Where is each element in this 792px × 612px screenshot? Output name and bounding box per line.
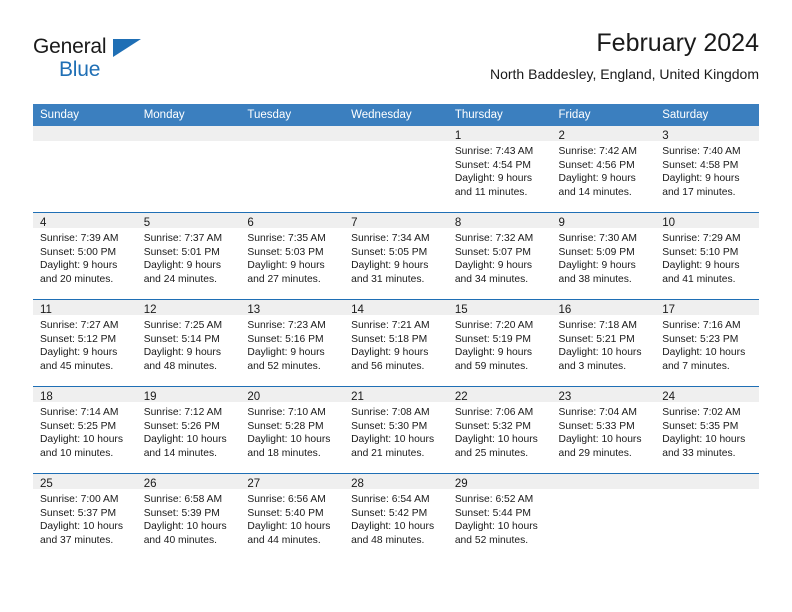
day-number: 17: [655, 300, 759, 315]
sunrise-text: Sunrise: 7:35 AM: [247, 232, 338, 246]
calendar-day-cell[interactable]: 19Sunrise: 7:12 AMSunset: 5:26 PMDayligh…: [137, 387, 241, 474]
sunset-text: Sunset: 5:23 PM: [662, 333, 753, 347]
sunrise-text: Sunrise: 7:30 AM: [559, 232, 650, 246]
day-details: [137, 141, 241, 212]
daylight-text-line2: and 25 minutes.: [455, 447, 546, 461]
day-number: 28: [344, 474, 448, 489]
daylight-text-line1: Daylight: 9 hours: [455, 259, 546, 273]
sunset-text: Sunset: 5:21 PM: [559, 333, 650, 347]
daylight-text-line1: Daylight: 9 hours: [455, 346, 546, 360]
weekday-header-sunday: Sunday: [33, 104, 137, 126]
calendar-day-cell[interactable]: 12Sunrise: 7:25 AMSunset: 5:14 PMDayligh…: [137, 300, 241, 387]
weekday-header-friday: Friday: [552, 104, 656, 126]
daylight-text-line2: and 31 minutes.: [351, 273, 442, 287]
calendar-day-cell[interactable]: 8Sunrise: 7:32 AMSunset: 5:07 PMDaylight…: [448, 213, 552, 300]
day-number: 3: [655, 126, 759, 141]
daylight-text-line1: Daylight: 9 hours: [144, 259, 235, 273]
page-subtitle: North Baddesley, England, United Kingdom: [490, 64, 759, 84]
calendar-day-cell[interactable]: 21Sunrise: 7:08 AMSunset: 5:30 PMDayligh…: [344, 387, 448, 474]
calendar-cell-empty: [240, 126, 344, 213]
sunset-text: Sunset: 5:19 PM: [455, 333, 546, 347]
sunset-text: Sunset: 5:01 PM: [144, 246, 235, 260]
daylight-text-line1: Daylight: 9 hours: [247, 346, 338, 360]
sunrise-text: Sunrise: 7:29 AM: [662, 232, 753, 246]
day-details: Sunrise: 7:20 AMSunset: 5:19 PMDaylight:…: [448, 315, 552, 386]
sunrise-text: Sunrise: 7:27 AM: [40, 319, 131, 333]
daylight-text-line2: and 21 minutes.: [351, 447, 442, 461]
calendar-day-cell[interactable]: 7Sunrise: 7:34 AMSunset: 5:05 PMDaylight…: [344, 213, 448, 300]
daylight-text-line2: and 29 minutes.: [559, 447, 650, 461]
calendar-day-cell[interactable]: 4Sunrise: 7:39 AMSunset: 5:00 PMDaylight…: [33, 213, 137, 300]
sunset-text: Sunset: 5:44 PM: [455, 507, 546, 521]
brand-logo-blue-text: Blue: [59, 59, 183, 81]
daylight-text-line1: Daylight: 10 hours: [559, 433, 650, 447]
day-number: 7: [344, 213, 448, 228]
sunrise-text: Sunrise: 7:08 AM: [351, 406, 442, 420]
sunset-text: Sunset: 5:32 PM: [455, 420, 546, 434]
sunset-text: Sunset: 5:14 PM: [144, 333, 235, 347]
daylight-text-line2: and 34 minutes.: [455, 273, 546, 287]
day-number: 6: [240, 213, 344, 228]
calendar-cell-empty: [137, 126, 241, 213]
sunrise-text: Sunrise: 7:34 AM: [351, 232, 442, 246]
day-details: Sunrise: 6:56 AMSunset: 5:40 PMDaylight:…: [240, 489, 344, 560]
calendar-day-cell[interactable]: 3Sunrise: 7:40 AMSunset: 4:58 PMDaylight…: [655, 126, 759, 213]
day-number: 19: [137, 387, 241, 402]
sunrise-text: Sunrise: 7:42 AM: [559, 145, 650, 159]
daylight-text-line2: and 3 minutes.: [559, 360, 650, 374]
daylight-text-line2: and 44 minutes.: [247, 534, 338, 548]
daylight-text-line1: Daylight: 9 hours: [40, 346, 131, 360]
sunrise-text: Sunrise: 7:00 AM: [40, 493, 131, 507]
day-details: [655, 489, 759, 560]
daylight-text-line2: and 48 minutes.: [351, 534, 442, 548]
sunset-text: Sunset: 5:16 PM: [247, 333, 338, 347]
calendar-day-cell[interactable]: 13Sunrise: 7:23 AMSunset: 5:16 PMDayligh…: [240, 300, 344, 387]
calendar-day-cell[interactable]: 27Sunrise: 6:56 AMSunset: 5:40 PMDayligh…: [240, 474, 344, 561]
daylight-text-line1: Daylight: 10 hours: [40, 520, 131, 534]
sunrise-text: Sunrise: 7:40 AM: [662, 145, 753, 159]
day-details: Sunrise: 7:37 AMSunset: 5:01 PMDaylight:…: [137, 228, 241, 299]
day-details: Sunrise: 7:43 AMSunset: 4:54 PMDaylight:…: [448, 141, 552, 212]
sunset-text: Sunset: 5:33 PM: [559, 420, 650, 434]
calendar-day-cell[interactable]: 17Sunrise: 7:16 AMSunset: 5:23 PMDayligh…: [655, 300, 759, 387]
sunrise-text: Sunrise: 7:14 AM: [40, 406, 131, 420]
daylight-text-line2: and 33 minutes.: [662, 447, 753, 461]
sunrise-text: Sunrise: 7:43 AM: [455, 145, 546, 159]
day-details: Sunrise: 7:18 AMSunset: 5:21 PMDaylight:…: [552, 315, 656, 386]
day-number: 16: [552, 300, 656, 315]
day-number: 27: [240, 474, 344, 489]
sunset-text: Sunset: 5:37 PM: [40, 507, 131, 521]
sunrise-text: Sunrise: 7:23 AM: [247, 319, 338, 333]
brand-logo-general-text: General: [33, 36, 183, 58]
day-number: [33, 126, 137, 141]
day-number: [655, 474, 759, 489]
calendar-table: Sunday Monday Tuesday Wednesday Thursday…: [33, 104, 759, 560]
calendar-day-cell[interactable]: 26Sunrise: 6:58 AMSunset: 5:39 PMDayligh…: [137, 474, 241, 561]
weekday-header-wednesday: Wednesday: [344, 104, 448, 126]
calendar-day-cell[interactable]: 22Sunrise: 7:06 AMSunset: 5:32 PMDayligh…: [448, 387, 552, 474]
day-number: [240, 126, 344, 141]
day-number: 23: [552, 387, 656, 402]
daylight-text-line1: Daylight: 10 hours: [351, 433, 442, 447]
day-number: 4: [33, 213, 137, 228]
sunset-text: Sunset: 5:25 PM: [40, 420, 131, 434]
day-number: 9: [552, 213, 656, 228]
daylight-text-line1: Daylight: 10 hours: [351, 520, 442, 534]
daylight-text-line2: and 48 minutes.: [144, 360, 235, 374]
sunrise-text: Sunrise: 6:58 AM: [144, 493, 235, 507]
day-details: Sunrise: 7:14 AMSunset: 5:25 PMDaylight:…: [33, 402, 137, 473]
day-number: 14: [344, 300, 448, 315]
day-details: Sunrise: 7:02 AMSunset: 5:35 PMDaylight:…: [655, 402, 759, 473]
page-header: General Blue February 2024 North Baddesl…: [33, 28, 759, 98]
calendar-day-cell[interactable]: 18Sunrise: 7:14 AMSunset: 5:25 PMDayligh…: [33, 387, 137, 474]
daylight-text-line2: and 7 minutes.: [662, 360, 753, 374]
daylight-text-line2: and 14 minutes.: [559, 186, 650, 200]
sunset-text: Sunset: 5:26 PM: [144, 420, 235, 434]
day-details: Sunrise: 6:52 AMSunset: 5:44 PMDaylight:…: [448, 489, 552, 560]
calendar-day-cell[interactable]: 23Sunrise: 7:04 AMSunset: 5:33 PMDayligh…: [552, 387, 656, 474]
daylight-text-line1: Daylight: 10 hours: [247, 433, 338, 447]
daylight-text-line2: and 37 minutes.: [40, 534, 131, 548]
calendar-week-row: 25Sunrise: 7:00 AMSunset: 5:37 PMDayligh…: [33, 474, 759, 561]
calendar-day-cell[interactable]: 5Sunrise: 7:37 AMSunset: 5:01 PMDaylight…: [137, 213, 241, 300]
sunrise-text: Sunrise: 6:56 AM: [247, 493, 338, 507]
sunrise-text: Sunrise: 7:20 AM: [455, 319, 546, 333]
weekday-header-tuesday: Tuesday: [240, 104, 344, 126]
sunset-text: Sunset: 5:42 PM: [351, 507, 442, 521]
calendar-day-cell[interactable]: 10Sunrise: 7:29 AMSunset: 5:10 PMDayligh…: [655, 213, 759, 300]
day-details: Sunrise: 6:54 AMSunset: 5:42 PMDaylight:…: [344, 489, 448, 560]
calendar-day-cell[interactable]: 24Sunrise: 7:02 AMSunset: 5:35 PMDayligh…: [655, 387, 759, 474]
day-details: Sunrise: 7:25 AMSunset: 5:14 PMDaylight:…: [137, 315, 241, 386]
sunrise-text: Sunrise: 7:02 AM: [662, 406, 753, 420]
sunrise-text: Sunrise: 6:52 AM: [455, 493, 546, 507]
sunrise-text: Sunrise: 7:06 AM: [455, 406, 546, 420]
day-details: Sunrise: 7:23 AMSunset: 5:16 PMDaylight:…: [240, 315, 344, 386]
calendar-day-cell[interactable]: 28Sunrise: 6:54 AMSunset: 5:42 PMDayligh…: [344, 474, 448, 561]
page-title: February 2024: [490, 28, 759, 58]
sunset-text: Sunset: 5:00 PM: [40, 246, 131, 260]
sunrise-text: Sunrise: 7:32 AM: [455, 232, 546, 246]
day-number: 20: [240, 387, 344, 402]
day-details: Sunrise: 7:42 AMSunset: 4:56 PMDaylight:…: [552, 141, 656, 212]
day-details: [33, 141, 137, 212]
daylight-text-line1: Daylight: 10 hours: [662, 346, 753, 360]
calendar-header-row: Sunday Monday Tuesday Wednesday Thursday…: [33, 104, 759, 126]
daylight-text-line1: Daylight: 10 hours: [455, 520, 546, 534]
day-details: Sunrise: 7:16 AMSunset: 5:23 PMDaylight:…: [655, 315, 759, 386]
daylight-text-line1: Daylight: 10 hours: [247, 520, 338, 534]
calendar-day-cell[interactable]: 1Sunrise: 7:43 AMSunset: 4:54 PMDaylight…: [448, 126, 552, 213]
calendar-day-cell[interactable]: 16Sunrise: 7:18 AMSunset: 5:21 PMDayligh…: [552, 300, 656, 387]
day-number: 2: [552, 126, 656, 141]
calendar-week-row: 4Sunrise: 7:39 AMSunset: 5:00 PMDaylight…: [33, 213, 759, 300]
day-details: [240, 141, 344, 212]
day-details: [344, 141, 448, 212]
day-number: 13: [240, 300, 344, 315]
sunrise-text: Sunrise: 7:39 AM: [40, 232, 131, 246]
day-details: Sunrise: 7:08 AMSunset: 5:30 PMDaylight:…: [344, 402, 448, 473]
calendar-day-cell[interactable]: 14Sunrise: 7:21 AMSunset: 5:18 PMDayligh…: [344, 300, 448, 387]
daylight-text-line2: and 17 minutes.: [662, 186, 753, 200]
sunset-text: Sunset: 5:10 PM: [662, 246, 753, 260]
daylight-text-line2: and 52 minutes.: [247, 360, 338, 374]
sunset-text: Sunset: 5:40 PM: [247, 507, 338, 521]
day-number: 29: [448, 474, 552, 489]
day-details: Sunrise: 7:10 AMSunset: 5:28 PMDaylight:…: [240, 402, 344, 473]
sunset-text: Sunset: 5:03 PM: [247, 246, 338, 260]
day-details: Sunrise: 7:12 AMSunset: 5:26 PMDaylight:…: [137, 402, 241, 473]
sunset-text: Sunset: 5:07 PM: [455, 246, 546, 260]
daylight-text-line2: and 59 minutes.: [455, 360, 546, 374]
day-number: 26: [137, 474, 241, 489]
day-details: Sunrise: 7:04 AMSunset: 5:33 PMDaylight:…: [552, 402, 656, 473]
day-number: 15: [448, 300, 552, 315]
daylight-text-line1: Daylight: 9 hours: [559, 259, 650, 273]
day-number: 8: [448, 213, 552, 228]
day-details: Sunrise: 7:30 AMSunset: 5:09 PMDaylight:…: [552, 228, 656, 299]
sunrise-text: Sunrise: 7:21 AM: [351, 319, 442, 333]
day-details: Sunrise: 7:34 AMSunset: 5:05 PMDaylight:…: [344, 228, 448, 299]
daylight-text-line1: Daylight: 10 hours: [559, 346, 650, 360]
daylight-text-line1: Daylight: 9 hours: [144, 346, 235, 360]
calendar-cell-empty: [344, 126, 448, 213]
day-details: Sunrise: 7:32 AMSunset: 5:07 PMDaylight:…: [448, 228, 552, 299]
day-number: 18: [33, 387, 137, 402]
weekday-header-saturday: Saturday: [655, 104, 759, 126]
sunset-text: Sunset: 5:09 PM: [559, 246, 650, 260]
sunrise-text: Sunrise: 7:18 AM: [559, 319, 650, 333]
daylight-text-line2: and 20 minutes.: [40, 273, 131, 287]
daylight-text-line1: Daylight: 9 hours: [247, 259, 338, 273]
day-number: 12: [137, 300, 241, 315]
sunset-text: Sunset: 5:30 PM: [351, 420, 442, 434]
daylight-text-line2: and 10 minutes.: [40, 447, 131, 461]
day-details: Sunrise: 7:27 AMSunset: 5:12 PMDaylight:…: [33, 315, 137, 386]
day-details: Sunrise: 7:40 AMSunset: 4:58 PMDaylight:…: [655, 141, 759, 212]
calendar-day-cell[interactable]: 25Sunrise: 7:00 AMSunset: 5:37 PMDayligh…: [33, 474, 137, 561]
day-details: Sunrise: 6:58 AMSunset: 5:39 PMDaylight:…: [137, 489, 241, 560]
daylight-text-line1: Daylight: 10 hours: [455, 433, 546, 447]
day-number: [344, 126, 448, 141]
day-number: [137, 126, 241, 141]
day-number: 25: [33, 474, 137, 489]
sunset-text: Sunset: 5:05 PM: [351, 246, 442, 260]
sunset-text: Sunset: 5:35 PM: [662, 420, 753, 434]
day-number: 22: [448, 387, 552, 402]
title-block: February 2024 North Baddesley, England, …: [490, 28, 759, 84]
sunset-text: Sunset: 4:56 PM: [559, 159, 650, 173]
sunrise-text: Sunrise: 7:12 AM: [144, 406, 235, 420]
sunset-text: Sunset: 5:28 PM: [247, 420, 338, 434]
sunrise-text: Sunrise: 7:16 AM: [662, 319, 753, 333]
brand-triangle-icon: [113, 39, 141, 57]
day-details: Sunrise: 7:21 AMSunset: 5:18 PMDaylight:…: [344, 315, 448, 386]
calendar-day-cell[interactable]: 11Sunrise: 7:27 AMSunset: 5:12 PMDayligh…: [33, 300, 137, 387]
daylight-text-line2: and 27 minutes.: [247, 273, 338, 287]
daylight-text-line2: and 24 minutes.: [144, 273, 235, 287]
sunrise-text: Sunrise: 7:25 AM: [144, 319, 235, 333]
calendar-day-cell[interactable]: 2Sunrise: 7:42 AMSunset: 4:56 PMDaylight…: [552, 126, 656, 213]
daylight-text-line1: Daylight: 9 hours: [40, 259, 131, 273]
day-details: [552, 489, 656, 560]
daylight-text-line2: and 52 minutes.: [455, 534, 546, 548]
calendar-day-cell[interactable]: 6Sunrise: 7:35 AMSunset: 5:03 PMDaylight…: [240, 213, 344, 300]
daylight-text-line2: and 56 minutes.: [351, 360, 442, 374]
day-number: [552, 474, 656, 489]
daylight-text-line2: and 18 minutes.: [247, 447, 338, 461]
sunrise-text: Sunrise: 7:10 AM: [247, 406, 338, 420]
day-number: 10: [655, 213, 759, 228]
daylight-text-line2: and 11 minutes.: [455, 186, 546, 200]
day-number: 11: [33, 300, 137, 315]
day-number: 5: [137, 213, 241, 228]
day-number: 24: [655, 387, 759, 402]
day-details: Sunrise: 7:00 AMSunset: 5:37 PMDaylight:…: [33, 489, 137, 560]
calendar-cell-empty: [552, 474, 656, 561]
daylight-text-line1: Daylight: 9 hours: [351, 346, 442, 360]
daylight-text-line1: Daylight: 9 hours: [662, 172, 753, 186]
calendar-week-row: 18Sunrise: 7:14 AMSunset: 5:25 PMDayligh…: [33, 387, 759, 474]
calendar-day-cell[interactable]: 15Sunrise: 7:20 AMSunset: 5:19 PMDayligh…: [448, 300, 552, 387]
weekday-header-thursday: Thursday: [448, 104, 552, 126]
calendar-day-cell[interactable]: 29Sunrise: 6:52 AMSunset: 5:44 PMDayligh…: [448, 474, 552, 561]
daylight-text-line2: and 38 minutes.: [559, 273, 650, 287]
calendar-week-row: 11Sunrise: 7:27 AMSunset: 5:12 PMDayligh…: [33, 300, 759, 387]
sunrise-text: Sunrise: 7:04 AM: [559, 406, 650, 420]
calendar-cell-empty: [655, 474, 759, 561]
daylight-text-line2: and 45 minutes.: [40, 360, 131, 374]
calendar-day-cell[interactable]: 20Sunrise: 7:10 AMSunset: 5:28 PMDayligh…: [240, 387, 344, 474]
sunset-text: Sunset: 5:12 PM: [40, 333, 131, 347]
day-details: Sunrise: 7:06 AMSunset: 5:32 PMDaylight:…: [448, 402, 552, 473]
daylight-text-line2: and 41 minutes.: [662, 273, 753, 287]
calendar-day-cell[interactable]: 9Sunrise: 7:30 AMSunset: 5:09 PMDaylight…: [552, 213, 656, 300]
sunrise-text: Sunrise: 7:37 AM: [144, 232, 235, 246]
sunrise-text: Sunrise: 6:54 AM: [351, 493, 442, 507]
daylight-text-line1: Daylight: 9 hours: [559, 172, 650, 186]
daylight-text-line1: Daylight: 10 hours: [144, 520, 235, 534]
calendar-cell-empty: [33, 126, 137, 213]
daylight-text-line1: Daylight: 9 hours: [662, 259, 753, 273]
day-details: Sunrise: 7:35 AMSunset: 5:03 PMDaylight:…: [240, 228, 344, 299]
daylight-text-line1: Daylight: 9 hours: [351, 259, 442, 273]
sunset-text: Sunset: 5:18 PM: [351, 333, 442, 347]
daylight-text-line1: Daylight: 10 hours: [662, 433, 753, 447]
sunset-text: Sunset: 4:54 PM: [455, 159, 546, 173]
day-number: 1: [448, 126, 552, 141]
calendar-page: General Blue February 2024 North Baddesl…: [0, 0, 792, 612]
sunset-text: Sunset: 4:58 PM: [662, 159, 753, 173]
day-details: Sunrise: 7:29 AMSunset: 5:10 PMDaylight:…: [655, 228, 759, 299]
calendar-week-row: 1Sunrise: 7:43 AMSunset: 4:54 PMDaylight…: [33, 126, 759, 213]
sunset-text: Sunset: 5:39 PM: [144, 507, 235, 521]
daylight-text-line1: Daylight: 10 hours: [40, 433, 131, 447]
day-details: Sunrise: 7:39 AMSunset: 5:00 PMDaylight:…: [33, 228, 137, 299]
daylight-text-line1: Daylight: 9 hours: [455, 172, 546, 186]
calendar-body: 1Sunrise: 7:43 AMSunset: 4:54 PMDaylight…: [33, 126, 759, 560]
brand-logo[interactable]: General Blue: [33, 36, 183, 84]
daylight-text-line2: and 40 minutes.: [144, 534, 235, 548]
daylight-text-line2: and 14 minutes.: [144, 447, 235, 461]
weekday-header-monday: Monday: [137, 104, 241, 126]
day-number: 21: [344, 387, 448, 402]
daylight-text-line1: Daylight: 10 hours: [144, 433, 235, 447]
